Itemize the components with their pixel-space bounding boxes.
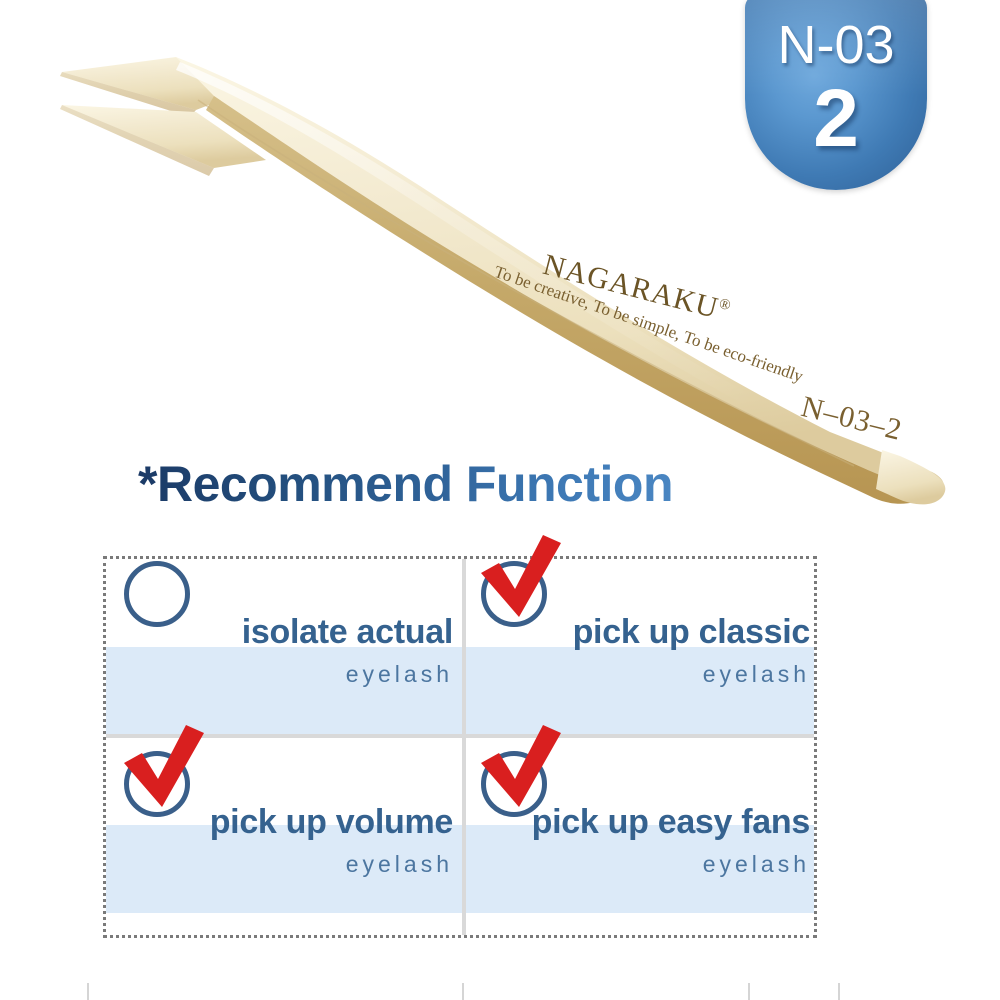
feature-cell[interactable]: pick up classic eyelash bbox=[463, 545, 820, 735]
section-tick-mark bbox=[87, 983, 89, 1000]
feature-cell[interactable]: isolate actual eyelash bbox=[106, 545, 463, 735]
page-title: *Recommend Function bbox=[138, 455, 673, 513]
feature-cell[interactable]: pick up volume eyelash bbox=[106, 735, 463, 925]
section-tick-mark bbox=[462, 983, 464, 1000]
feature-subtitle: eyelash bbox=[463, 661, 810, 688]
section-tick-mark bbox=[748, 983, 750, 1000]
feature-subtitle: eyelash bbox=[106, 851, 453, 878]
badge-variant-number: 2 bbox=[745, 78, 927, 160]
feature-subtitle: eyelash bbox=[106, 661, 453, 688]
empty-circle-icon bbox=[124, 561, 190, 627]
recommend-function-matrix: isolate actual eyelash pick up classic e… bbox=[103, 556, 817, 938]
red-check-icon bbox=[477, 723, 569, 815]
model-badge: N-03 2 bbox=[745, 0, 927, 190]
feature-cell[interactable]: pick up easy fans eyelash bbox=[463, 735, 820, 925]
red-check-icon bbox=[477, 533, 569, 625]
badge-model-code: N-03 bbox=[745, 14, 927, 76]
red-check-icon bbox=[120, 723, 212, 815]
feature-subtitle: eyelash bbox=[463, 851, 810, 878]
product-image: NAGARAKU® To be creative, To be simple, … bbox=[0, 0, 1000, 1000]
section-tick-mark bbox=[838, 983, 840, 1000]
